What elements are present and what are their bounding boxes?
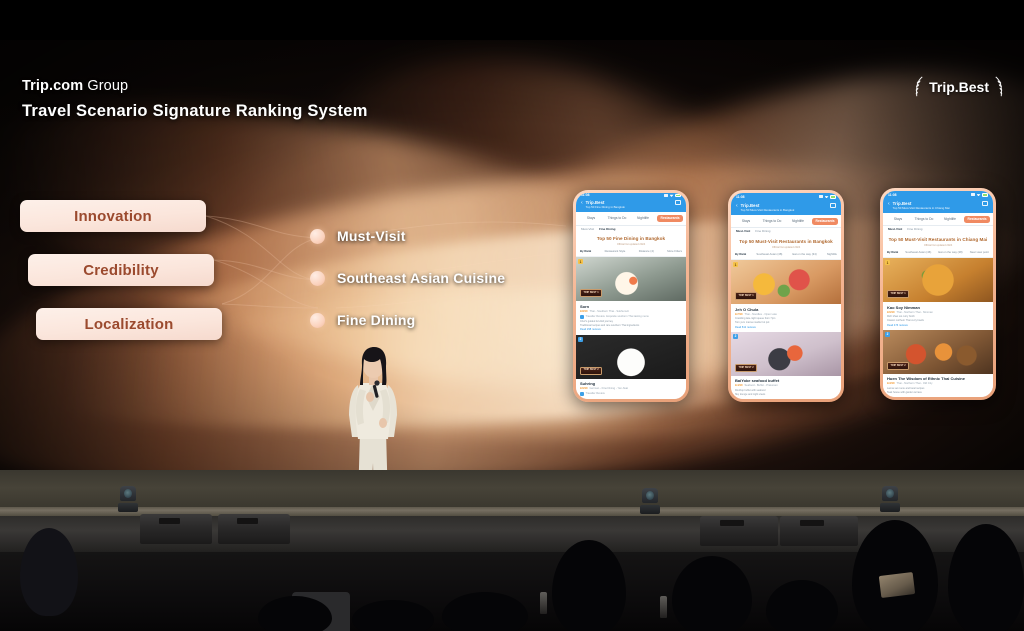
restaurant-card[interactable]: 1 TRIP BEST 1 Kao Soy Nimman 9.6/10 Thai…	[883, 258, 993, 330]
light-base	[118, 503, 138, 512]
chip-fine-dining[interactable]: Fine Dining	[599, 228, 615, 232]
battery-icon	[830, 195, 836, 198]
tab-restaurants[interactable]: Restaurants	[657, 215, 683, 222]
restaurant-card[interactable]: 2 TRIP BEST 2 Suhring 9.6/10 German - Fi…	[576, 335, 686, 399]
light-head	[120, 486, 136, 501]
filter-cuisine[interactable]: Southeast Asian (46)	[905, 251, 931, 254]
phone-mockup-must-visit-chiang-mai: 11:08 ‹ Trip.Best Top 50 Must-Visit Rest…	[880, 188, 996, 400]
restaurant-meta: 9.4/10 Seafood - Buffet - Pratunam	[735, 384, 837, 387]
restaurant-info: Kao Soy Nimman 9.6/10 Thai - Northern Th…	[883, 302, 993, 330]
scenario-chip-row: Must-Visit Fine Dining	[883, 226, 993, 235]
filter-on-the-way[interactable]: Eat on the way (34)	[792, 253, 816, 256]
highlight-line: Traditional recipes and rare southern Th…	[580, 324, 682, 327]
bullet-dot-icon	[310, 229, 325, 244]
rating-score: 9.6/10	[580, 387, 587, 390]
tab-restaurants[interactable]: Restaurants	[964, 216, 990, 223]
restaurant-card[interactable]: 1 TRIP BEST 1 Sorn 9.8/10 Thai - Souther…	[576, 257, 686, 334]
app-bar-subtitle: Top 50 Must-Visit Restaurants in Bangkok	[741, 209, 827, 213]
app-bar: ‹ Trip.Best Top 50 Must-Visit Restaurant…	[731, 201, 841, 215]
rating-score: 9.6/10	[887, 311, 894, 314]
moving-head-light	[880, 486, 900, 512]
phone-screen: 11:08 ‹ Trip.Best Top 50 Must-Visit Rest…	[883, 191, 993, 397]
restaurant-photo: 1 TRIP BEST 1	[731, 260, 841, 304]
audience-phone-screen	[879, 572, 915, 598]
tripbest-award-badge: TRIP BEST 1	[735, 292, 757, 300]
scenario-label: Southeast Asian Cuisine	[337, 270, 505, 286]
back-chevron-icon[interactable]: ‹	[888, 202, 890, 207]
restaurant-photo: 2 TRIP BEST 2	[883, 330, 993, 374]
category-tab-row: Stays Things to Do Nightlife Restaurants	[576, 212, 686, 225]
tripbest-award-badge: TRIP BEST 1	[887, 290, 909, 298]
rank-badge: 2	[885, 332, 890, 337]
light-head	[642, 488, 658, 503]
restaurant-name: Sorn	[580, 304, 682, 309]
tab-things-to-do[interactable]: Things to Do	[760, 219, 784, 223]
slide-brand: Trip.com Group	[22, 78, 128, 94]
filter-by-rank[interactable]: By Rank	[887, 251, 898, 254]
light-base	[640, 505, 660, 514]
rank-badge: 1	[885, 260, 890, 265]
app-bar: ‹ Trip.Best Top 50 Fine Dining in Bangko…	[576, 198, 686, 212]
app-bar-titles: Trip.Best Top 50 Must-Visit Restaurants …	[893, 201, 979, 210]
keynote-stage-photo: Trip.com Group Travel Scenario Signature…	[0, 0, 1024, 631]
signal-icon	[819, 195, 823, 198]
restaurant-info: Suhring 9.6/10 German - Fine Dining - Ye…	[576, 379, 686, 399]
tripbest-award-badge: TRIP BEST 2	[887, 362, 909, 370]
highlight-line: Chef's guided 12-dish journey	[580, 320, 682, 323]
cuisine-tags: Seafood - Buffet - Pratunam	[744, 384, 777, 387]
stage-monitor	[218, 514, 290, 544]
restaurant-name: Huen The Wisdom of Ethnic Thai Cuisine	[887, 376, 989, 381]
restaurant-name: BaiYoke seafood buffet	[735, 378, 837, 383]
highlight-line: Teak house with garden terrace	[887, 391, 989, 394]
filter-row: By Rank Southeast Asian (48) Eat on the …	[731, 252, 841, 260]
read-reviews-link[interactable]: Read 812 reviews	[735, 326, 837, 329]
scenario-item-southeast-asian-cuisine[interactable]: Southeast Asian Cuisine	[310, 270, 505, 286]
highlight-line: Tom yum mama noodle hot pot	[735, 321, 837, 324]
back-chevron-icon[interactable]: ‹	[581, 201, 583, 206]
water-bottle	[660, 596, 667, 618]
stage-monitor	[700, 516, 778, 546]
restaurant-meta: 9.8/10 Thai - Southern Thai - Sukhumvit	[580, 310, 682, 313]
reviewer-name: Traveller Review	[586, 315, 605, 318]
restaurant-info: Sorn 9.8/10 Thai - Southern Thai - Sukhu…	[576, 301, 686, 334]
cuisine-tags: Thai - Southern Thai - Sukhumvit	[589, 310, 628, 313]
ranking-list-title: Top 50 Must-Visit Restaurants in Chiang …	[883, 235, 993, 244]
rating-score: 9.4/10	[735, 384, 742, 387]
tripbest-award-badge: TRIP BEST 2	[735, 364, 757, 372]
pillar-pill-innovation[interactable]: Innovation	[20, 200, 206, 232]
tab-things-to-do[interactable]: Things to Do	[912, 217, 936, 221]
tripbest-award-badge: TRIP BEST 1	[580, 289, 602, 297]
restaurant-photo: 1 TRIP BEST 1	[576, 257, 686, 301]
rank-badge: 1	[578, 259, 583, 264]
tab-stays[interactable]: Stays	[886, 217, 910, 221]
cuisine-tags: Thai - Noodles - Open Late	[744, 313, 776, 316]
battery-icon	[982, 193, 988, 196]
app-bar: ‹ Trip.Best Top 50 Must-Visit Restaurant…	[883, 199, 993, 213]
brand-tripcom: Trip.com	[22, 78, 83, 94]
restaurant-meta: 9.6/10 German - Fine Dining - Yen Akat	[580, 387, 682, 390]
battery-icon	[675, 194, 681, 197]
restaurant-card[interactable]: 1 TRIP BEST 1 Jeh O Chula 9.7/10 Thai - …	[731, 260, 841, 332]
ranking-list-title: Top 50 Fine Dining in Bangkok	[576, 234, 686, 243]
review-snippet: Traveller Review	[580, 392, 682, 396]
tab-nightlife[interactable]: Nightlife	[786, 219, 810, 223]
highlight-line: Crackling late-night queue from 7pm	[735, 317, 837, 320]
filter-nightlife[interactable]: Nightlife	[827, 253, 837, 256]
cuisine-tags: Thai - Northern Thai - Nimman	[896, 311, 932, 314]
restaurant-name: Jeh O Chula	[735, 307, 837, 312]
category-tab-row: Stays Things to Do Nightlife Restaurants	[731, 215, 841, 228]
scenario-chip-row: Must-Visit Fine Dining	[731, 228, 841, 237]
status-icon-group	[819, 195, 836, 198]
restaurant-meta: 9.7/10 Thai - Noodles - Open Late	[735, 313, 837, 316]
brand-group: Group	[83, 78, 128, 94]
tripbest-award-badge: TRIP BEST 2	[580, 367, 602, 375]
reviewer-avatar	[580, 315, 584, 319]
rating-score: 9.7/10	[735, 313, 742, 316]
share-icon[interactable]	[675, 200, 681, 205]
chip-must-visit[interactable]: Must-Visit	[736, 230, 750, 234]
reviewer-avatar	[580, 392, 584, 396]
tab-stays[interactable]: Stays	[579, 216, 603, 220]
share-icon[interactable]	[830, 203, 836, 208]
audience-silhouette	[20, 528, 78, 616]
status-time: 11:08	[581, 193, 589, 197]
status-time: 11:08	[888, 193, 896, 197]
led-presentation-screen: Trip.com Group Travel Scenario Signature…	[0, 40, 1024, 480]
moving-head-light	[118, 486, 138, 512]
app-bar-titles: Trip.Best Top 50 Fine Dining in Bangkok	[586, 200, 672, 209]
water-bottle	[540, 592, 547, 614]
filter-row: By Rank Southeast Asian (46) Eat on the …	[883, 250, 993, 258]
restaurant-card[interactable]: 2 TRIP BEST 2 BaiYoke seafood buffet 9.4…	[731, 332, 841, 399]
tab-restaurants[interactable]: Restaurants	[812, 218, 838, 225]
tab-stays[interactable]: Stays	[734, 219, 758, 223]
filter-on-the-way[interactable]: Eat on the way (28)	[938, 251, 962, 254]
rating-score: 9.3/10	[887, 382, 894, 385]
filter-row: By Rank Restaurant Style Distance (4) Mo…	[576, 249, 686, 257]
tab-things-to-do[interactable]: Things to Do	[605, 216, 629, 220]
restaurant-info: BaiYoke seafood buffet 9.4/10 Seafood - …	[731, 376, 841, 399]
light-base	[880, 503, 900, 512]
category-tab-row: Stays Things to Do Nightlife Restaurants	[883, 213, 993, 226]
scenario-list: Must-Visit Southeast Asian Cuisine Fine …	[310, 228, 505, 328]
filter-cuisine[interactable]: Southeast Asian (48)	[756, 253, 782, 256]
laurel-right-icon	[993, 76, 1004, 98]
tab-nightlife[interactable]: Nightlife	[631, 216, 655, 220]
cuisine-tags: German - Fine Dining - Yen Akat	[589, 387, 628, 390]
restaurant-info: Huen The Wisdom of Ethnic Thai Cuisine 9…	[883, 374, 993, 397]
read-reviews-link[interactable]: Read 298 reviews	[580, 328, 682, 331]
restaurant-photo: 1 TRIP BEST 1	[883, 258, 993, 302]
filter-viewpoint[interactable]: Near view point	[970, 251, 989, 254]
restaurant-photo: 2 TRIP BEST 2	[576, 335, 686, 379]
phone-mockup-must-visit-bangkok: 11:08 ‹ Trip.Best Top 50 Must-Visit Rest…	[728, 190, 844, 402]
restaurant-info: Jeh O Chula 9.7/10 Thai - Noodles - Open…	[731, 304, 841, 332]
laurel-left-icon	[914, 76, 925, 98]
status-time: 11:08	[736, 195, 744, 199]
stage-monitor	[140, 514, 212, 544]
wifi-icon	[825, 195, 829, 198]
review-snippet: Traveller Review Exquisite southern Thai…	[580, 315, 682, 319]
filter-distance[interactable]: Distance (4)	[639, 250, 654, 253]
slide-title: Travel Scenario Signature Ranking System	[22, 102, 368, 121]
pillar-pill-localization[interactable]: Localization	[36, 308, 222, 340]
phone-mockup-fine-dining-bangkok: 11:08 ‹ Trip.Best Top 50 Fine Dining in …	[573, 190, 689, 402]
restaurant-meta: 9.6/10 Thai - Northern Thai - Nimman	[887, 311, 989, 314]
restaurant-name: Kao Soy Nimman	[887, 305, 989, 310]
bullet-dot-icon	[310, 313, 325, 328]
cuisine-tags: Thai - Northern Thai - Old City	[896, 382, 932, 385]
filter-style[interactable]: Restaurant Style	[605, 250, 626, 253]
chip-must-visit[interactable]: Must-Visit	[581, 228, 594, 232]
tripbest-logo-text: Trip.Best	[929, 79, 989, 95]
ranking-list-title: Top 50 Must-Visit Restaurants in Bangkok	[731, 237, 841, 246]
highlight-line: Rich khao soi curry broth	[887, 315, 989, 318]
filter-more[interactable]: More Filters	[667, 250, 682, 253]
bullet-dot-icon	[310, 271, 325, 286]
status-icon-group	[971, 193, 988, 196]
reviewer-name: Traveller Review	[586, 392, 605, 395]
scenario-item-must-visit[interactable]: Must-Visit	[310, 228, 505, 244]
phone-screen: 11:08 ‹ Trip.Best Top 50 Fine Dining in …	[576, 193, 686, 399]
moving-head-light	[640, 488, 660, 514]
app-bar-subtitle: Top 50 Fine Dining in Bangkok	[586, 206, 672, 210]
status-bar: 11:08	[731, 193, 841, 201]
highlight-line: Sky lounge and night views	[735, 393, 837, 396]
rank-badge: 2	[578, 337, 583, 342]
pillar-pill-group: Innovation Credibility Localization	[20, 200, 222, 340]
filter-by-rank[interactable]: By Rank	[735, 253, 746, 256]
highlight-line: Classic northern Thai curry bowls	[887, 319, 989, 322]
chip-must-visit[interactable]: Must-Visit	[888, 228, 902, 232]
app-bar-titles: Trip.Best Top 50 Must-Visit Restaurants …	[741, 203, 827, 212]
read-reviews-link[interactable]: Read 476 reviews	[887, 324, 989, 327]
filter-by-rank[interactable]: By Rank	[580, 250, 591, 253]
light-head	[882, 486, 898, 501]
back-chevron-icon[interactable]: ‹	[736, 204, 738, 209]
rating-score: 9.8/10	[580, 310, 587, 313]
app-bar-subtitle: Top 50 Must-Visit Restaurants in Chiang …	[893, 207, 979, 211]
chip-fine-dining[interactable]: Fine Dining	[755, 230, 770, 234]
restaurant-name: Suhring	[580, 381, 682, 386]
tab-nightlife[interactable]: Nightlife	[938, 217, 962, 221]
rank-badge: 2	[733, 334, 738, 339]
scenario-label: Fine Dining	[337, 312, 415, 328]
scenario-item-fine-dining[interactable]: Fine Dining	[310, 312, 505, 328]
restaurant-photo: 2 TRIP BEST 2	[731, 332, 841, 376]
restaurant-card[interactable]: 2 TRIP BEST 2 Huen The Wisdom of Ethnic …	[883, 330, 993, 397]
highlight-line: Lanna set menu and local recipes	[887, 387, 989, 390]
stage-monitor	[780, 516, 858, 546]
scenario-chip-row: Must-Visit Fine Dining	[576, 226, 686, 235]
review-text: Exquisite southern Thai tasting menu	[606, 315, 649, 318]
scenario-label: Must-Visit	[337, 228, 406, 244]
tripbest-logo: Trip.Best	[914, 76, 1004, 98]
status-bar: 11:08	[883, 191, 993, 199]
rank-badge: 1	[733, 262, 738, 267]
status-icon-group	[664, 194, 681, 197]
phone-screen: 11:08 ‹ Trip.Best Top 50 Must-Visit Rest…	[731, 193, 841, 399]
pillar-pill-credibility[interactable]: Credibility	[28, 254, 214, 286]
wifi-icon	[977, 193, 981, 196]
restaurant-meta: 9.3/10 Thai - Northern Thai - Old City	[887, 382, 989, 385]
wifi-icon	[670, 194, 674, 197]
share-icon[interactable]	[982, 201, 988, 206]
chip-fine-dining[interactable]: Fine Dining	[907, 228, 922, 232]
highlight-line: Rooftop buffet with seafood	[735, 389, 837, 392]
signal-icon	[971, 193, 975, 196]
signal-icon	[664, 194, 668, 197]
